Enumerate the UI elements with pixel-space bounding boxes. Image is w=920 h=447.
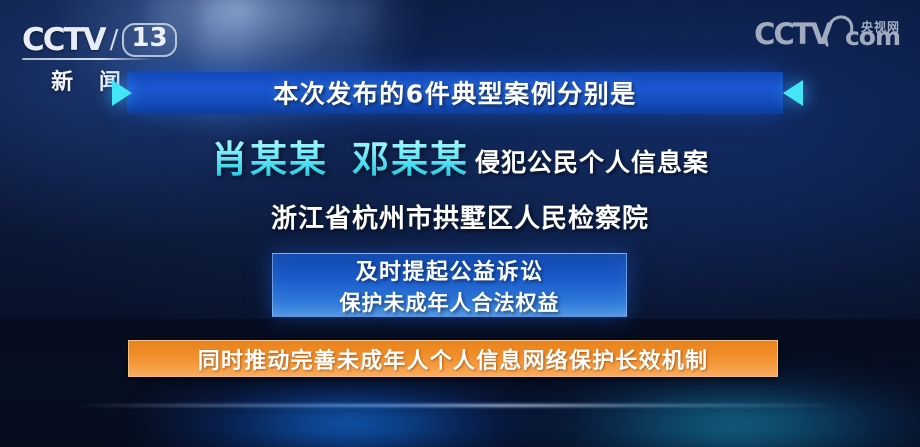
prosecuting-organization: 浙江省杭州市拱墅区人民检察院 bbox=[0, 198, 920, 235]
floor-glow-left bbox=[140, 379, 560, 447]
headline-text: 本次发布的6件典型案例分别是 bbox=[127, 74, 783, 110]
watermark-brand: CCTV bbox=[754, 20, 831, 49]
cctv-com-watermark: 央视网 CCTV com bbox=[754, 20, 900, 49]
orange-bar-text: 同时推动完善未成年人个人信息网络保护长效机制 bbox=[198, 343, 708, 375]
play-triangle-right-icon bbox=[112, 80, 132, 106]
perspective-grid-floor bbox=[0, 319, 920, 447]
cctv13-logo-row: CCTV / 13 bbox=[22, 24, 158, 56]
highlight-box: 及时提起公益诉讼 保护未成年人合法权益 bbox=[272, 253, 627, 317]
defendant-name-second: 邓某某 bbox=[352, 129, 469, 183]
horizon-glow bbox=[74, 404, 847, 407]
broadcast-graphic-stage: CCTV / 13 新 闻 央视网 CCTV com 本次发布的6件典型案例分别… bbox=[0, 0, 920, 447]
case-title-line: 肖某某 邓某某 侵犯公民个人信息案 bbox=[0, 129, 920, 183]
headline-banner: 本次发布的6件典型案例分别是 bbox=[127, 72, 783, 114]
highlight-line-2: 保护未成年人合法权益 bbox=[340, 287, 560, 317]
watermark-arc-icon bbox=[827, 25, 847, 49]
floor-glow-right bbox=[520, 377, 920, 447]
watermark-cn-label: 央视网 bbox=[861, 18, 900, 35]
channel-number: 13 bbox=[122, 23, 176, 56]
floor-fade-overlay bbox=[0, 319, 920, 447]
highlight-line-1: 及时提起公益诉讼 bbox=[355, 254, 543, 286]
logo-slash-icon: / bbox=[110, 25, 119, 55]
case-type-label: 侵犯公民个人信息案 bbox=[475, 143, 709, 179]
defendant-name-first: 肖某某 bbox=[211, 129, 328, 183]
logo-underline bbox=[22, 58, 154, 60]
cctv-wordmark: CCTV bbox=[22, 25, 105, 56]
orange-summary-bar: 同时推动完善未成年人个人信息网络保护长效机制 bbox=[128, 340, 778, 377]
play-triangle-left-icon bbox=[783, 80, 803, 106]
